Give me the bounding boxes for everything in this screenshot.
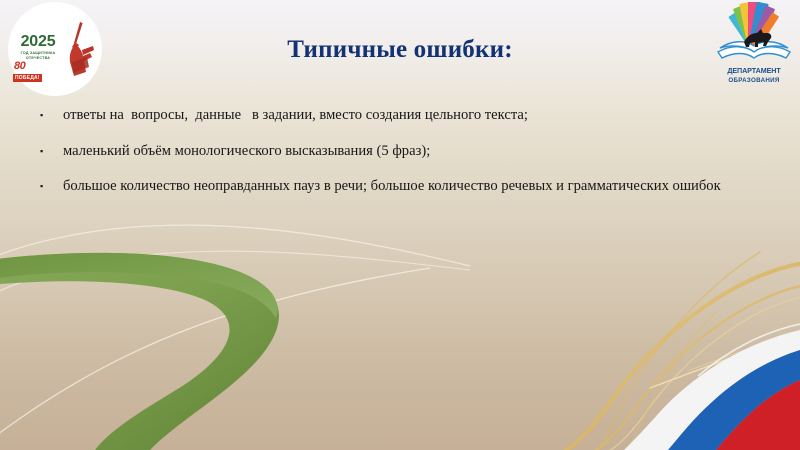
bullet-text-3: большое количество неоправданных пауз в …	[63, 175, 770, 199]
bullet-square-icon: ▪	[40, 104, 63, 120]
bullet-list: ▪ ответы на вопросы, данные в задании, в…	[40, 104, 770, 211]
bullet-text-2: маленький объём монологического высказыв…	[63, 140, 770, 164]
russian-flag-ribbon	[624, 324, 800, 450]
year-of-defender-2025-emblem: 2025 ГОД ЗАЩИТНИКА ОТЕЧЕСТВА	[8, 2, 102, 96]
green-ribbon-decoration	[0, 253, 279, 450]
emblem-year-block: 2025 ГОД ЗАЩИТНИКА ОТЕЧЕСТВА	[16, 34, 60, 60]
emblem-year: 2025	[16, 34, 60, 50]
victory-label: ПОБЕДА!	[13, 74, 42, 82]
gold-curve-lines	[566, 252, 800, 450]
department-label-line2: ОБРАЗОВАНИЯ	[714, 77, 794, 84]
emblem-caption-line1: ГОД ЗАЩИТНИКА	[16, 52, 60, 56]
page-title: Типичные ошибки:	[120, 36, 680, 64]
department-of-education-emblem: ДЕПАРТАМЕНТ ОБРАЗОВАНИЯ	[714, 2, 794, 88]
presentation-slide: 2025 ГОД ЗАЩИТНИКА ОТЕЧЕСТВА	[0, 0, 800, 450]
department-label-line1: ДЕПАРТАМЕНТ	[714, 66, 794, 75]
slide-header: 2025 ГОД ЗАЩИТНИКА ОТЕЧЕСТВА	[0, 0, 800, 96]
list-item: ▪ ответы на вопросы, данные в задании, в…	[40, 104, 770, 128]
bullet-square-icon: ▪	[40, 175, 63, 191]
light-curve-lines	[0, 225, 470, 440]
anniversary-number: 80	[14, 60, 25, 72]
bullet-text-1: ответы на вопросы, данные в задании, вме…	[63, 104, 770, 128]
bullet-square-icon: ▪	[40, 140, 63, 156]
list-item: ▪ большое количество неоправданных пауз …	[40, 175, 770, 199]
motherland-statue-icon	[60, 20, 98, 80]
list-item: ▪ маленький объём монологического высказ…	[40, 140, 770, 164]
education-books-icon	[714, 2, 794, 74]
